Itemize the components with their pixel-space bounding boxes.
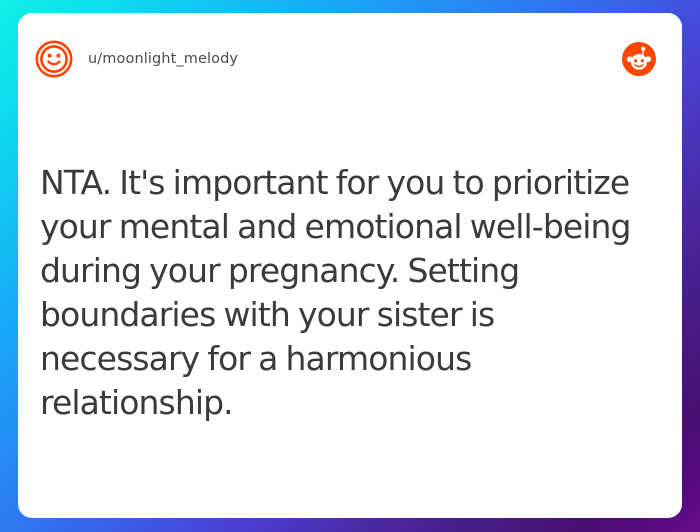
reddit-snoo-logo-icon[interactable] — [622, 42, 656, 76]
reddit-comment-card: u/moonlight_melody NTA. It's impo — [18, 13, 682, 518]
comment-text: NTA. It's important for you to prioritiz… — [40, 161, 660, 425]
card-header: u/moonlight_melody — [18, 13, 682, 105]
smiley-face-avatar-icon — [34, 39, 74, 79]
username-label: u/moonlight_melody — [88, 51, 238, 67]
gradient-background: u/moonlight_melody NTA. It's impo — [0, 0, 700, 532]
